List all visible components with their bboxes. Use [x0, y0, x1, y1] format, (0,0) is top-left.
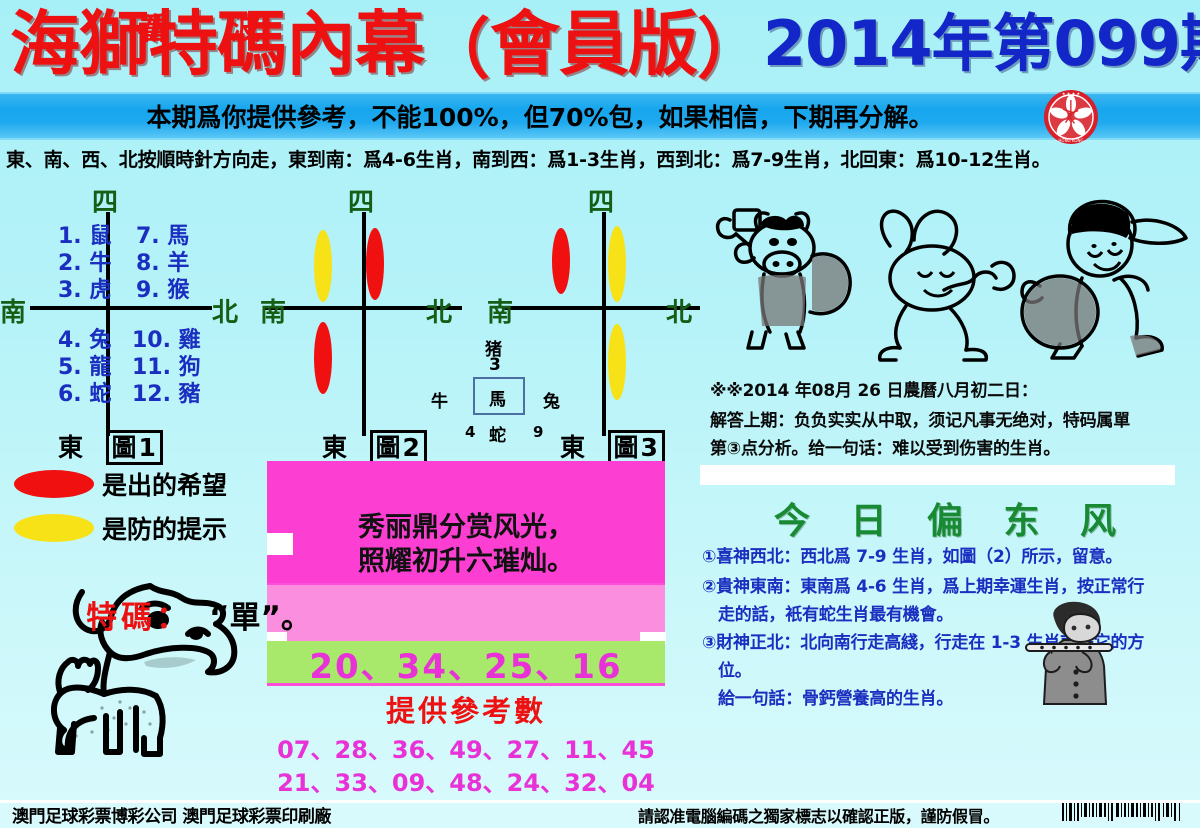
- subtitle-text: 本期爲你提供參考，不能100%，但70%包，如果相信，下期再分解。: [0, 96, 1080, 136]
- footer-right-text: 請認准電腦編碼之獨家標志以確認正版，謹防假冒。: [638, 803, 999, 827]
- hong-kong-bauhinia-emblem-icon: ★ ★ ★ ★ HONG KONG: [1040, 88, 1102, 146]
- title-red-part-2: 會員版: [490, 9, 697, 79]
- tema-code-row: 特碼： “單”。: [0, 588, 398, 640]
- point-2-line-2: 走的話，衹有蛇生肖最有機會。: [718, 600, 953, 625]
- tema-label: 特碼：: [86, 592, 191, 637]
- kanbo-heading: 看 波: [0, 4, 398, 48]
- fig2-marker-red-upper-right: [366, 228, 384, 300]
- date-line: ※※2014 年08月 26 日農曆八月初二日：: [710, 376, 1038, 401]
- svg-text:★ ★ ★ ★: ★ ★ ★ ★: [1062, 91, 1081, 96]
- poem-line-2: 照耀初升六璀灿。: [267, 539, 665, 578]
- cow-rabbit-boy-cartoon-icon: [700, 186, 1200, 366]
- footer-left-text: 澳門足球彩票博彩公司 澳門足球彩票印刷廠: [12, 802, 331, 827]
- point-1: ①喜神西北：西北爲 7-9 生肖，如圖（2）所示，留意。: [702, 542, 1122, 567]
- fig1-south-label: 南: [0, 292, 26, 329]
- point-2-line-1: ②貴神東南：東南爲 4-6 生肖，爲上期幸運生肖，按正常行: [702, 572, 1144, 597]
- zodiac-9: 9. 猴: [136, 272, 189, 304]
- zodiac-3: 3. 虎: [58, 272, 111, 304]
- fig1-caption: 東 圖1: [58, 428, 163, 464]
- fig2-caption: 東 圖2: [322, 428, 427, 464]
- title-paren-close: ）: [697, 0, 763, 92]
- fig1-north-label: 四: [92, 182, 118, 219]
- mini-compass-diagram: 猪 3 牛 馬 兔 4 蛇 9: [415, 335, 585, 450]
- legend-red-text: 是出的希望: [102, 466, 227, 502]
- fig3-south-label: 南: [487, 292, 513, 329]
- white-separator-bar: [700, 465, 1175, 485]
- mini-compass-top-number: 3: [489, 355, 501, 375]
- fig2-marker-red-lower-left: [314, 322, 332, 394]
- title-paren-open: （: [424, 0, 490, 92]
- mini-compass-bottom-right-number: 9: [533, 423, 543, 441]
- fig2-marker-yellow-upper-left: [314, 230, 332, 302]
- reference-row-2: 21、33、09、48、24、32、04: [267, 763, 665, 798]
- reference-row-1: 07、28、36、49、27、11、45: [267, 730, 665, 765]
- zodiac-12: 12. 豬: [132, 376, 201, 408]
- reference-heading: 提供參考數: [267, 688, 665, 730]
- today-wind-heading: 今 日 偏 东 风: [700, 492, 1190, 544]
- closing-line: 給一句話：骨鈣營養高的生肖。: [718, 684, 953, 709]
- figure-1: 四 南 北 1. 鼠 2. 牛 3. 虎 7. 馬 8. 羊 9. 猴 4. 兔…: [0, 182, 262, 452]
- mini-compass-right: 兔: [543, 387, 560, 412]
- poster-root: 海獅特碼內幕 （ 會員版 ） 2014年第099期 本期爲你提供參考，不能100…: [0, 0, 1200, 828]
- tema-value: “單”。: [209, 592, 312, 637]
- prev-answer-line-1: 解答上期：负负实实从中取，须记凡事无绝对，特码属單: [710, 406, 1130, 431]
- mini-compass-center: 馬: [489, 385, 506, 410]
- mini-compass-bottom-left-number: 4: [465, 423, 475, 441]
- fig3-vertical-axis: [602, 212, 606, 436]
- fig3-marker-yellow-upper-right: [608, 226, 626, 302]
- navigation-rule-text: 東、南、西、北按順時針方向走，東到南：爲4-6生肖，南到西：爲1-3生肖，西到北…: [6, 145, 1196, 175]
- fig2-south-label: 南: [260, 292, 286, 329]
- fig2-north-label: 四: [348, 182, 374, 219]
- fig3-marker-red-upper-left: [552, 228, 570, 294]
- barcode-icon: [1060, 803, 1188, 823]
- prev-answer-line-2: 第③点分析。给一句话：难以受到伤害的生肖。: [710, 434, 1060, 459]
- white-accent-tab-left: [267, 533, 293, 555]
- flute-player-illustration-icon: [1020, 600, 1140, 710]
- zodiac-6: 6. 蛇: [58, 376, 111, 408]
- legend: 是出的希望 是防的提示: [8, 466, 263, 562]
- fig1-west-label: 北: [212, 292, 238, 329]
- title-issue: 2014年第099期: [763, 13, 1200, 75]
- point-3-line-2: 位。: [718, 656, 752, 681]
- fig3-north-label: 四: [588, 182, 614, 219]
- main-numbers: 20、34、25、16: [267, 643, 665, 683]
- yellow-ellipse-icon: [14, 514, 94, 542]
- mini-compass-bottom: 蛇: [489, 421, 506, 446]
- mini-compass-left: 牛: [431, 387, 448, 412]
- fig1-horizontal-axis: [30, 306, 212, 310]
- fig2-west-label: 北: [426, 292, 452, 329]
- fig2-vertical-axis: [362, 212, 366, 436]
- red-ellipse-icon: [14, 470, 94, 498]
- fig3-marker-yellow-lower-right: [608, 324, 626, 400]
- svg-text:HONG KONG: HONG KONG: [1058, 138, 1083, 143]
- fig3-west-label: 北: [666, 292, 692, 329]
- legend-yellow-text: 是防的提示: [102, 510, 227, 546]
